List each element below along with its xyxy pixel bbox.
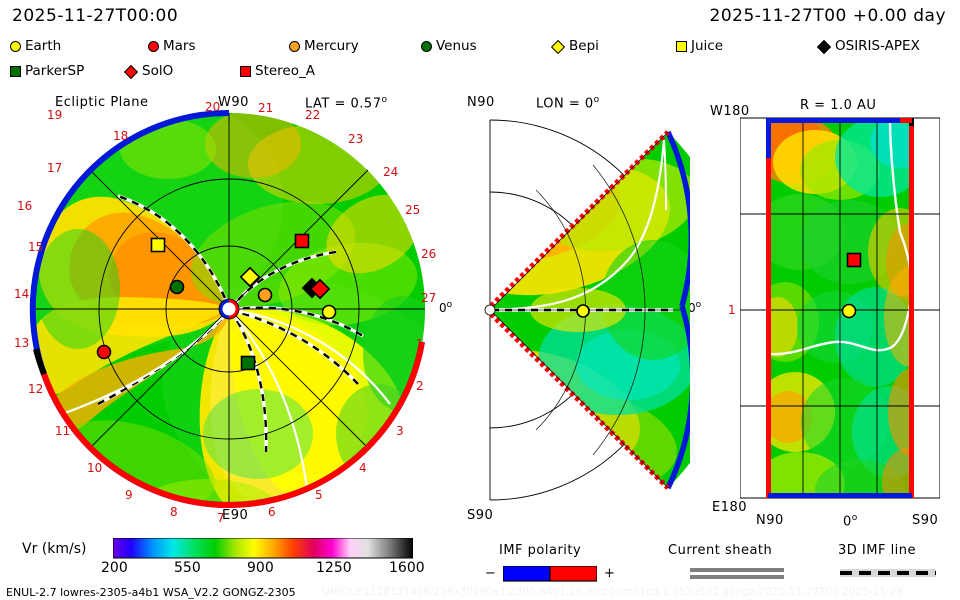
- legend-item-osiris-apex: OSIRIS-APEX: [819, 40, 920, 53]
- legend-item-solo: SolO: [126, 65, 173, 78]
- earth-body-marker: [843, 305, 856, 318]
- carrington-tick-1: 1: [416, 337, 424, 351]
- legend-item-earth: Earth: [10, 40, 61, 53]
- legend-item-mercury: Mercury: [289, 40, 359, 53]
- meridional-plane-plot: [468, 110, 690, 510]
- sphere-map-plot: [740, 112, 940, 504]
- earth-marker-icon: [10, 41, 21, 52]
- carrington-tick-6: 6: [268, 505, 276, 519]
- mars-body-marker: [98, 346, 111, 359]
- carrington-tick-21: 21: [258, 101, 273, 115]
- sphere-xtick-s90: S90: [912, 513, 938, 528]
- footer-model-text: ENUL-2.7 lowres-2305-a4b1 WSA_V2.2 GONGZ…: [6, 586, 296, 599]
- mars-marker-icon: [148, 41, 159, 52]
- legend-item-label: SolO: [142, 65, 173, 78]
- current-sheath-title: Current sheath: [668, 543, 772, 558]
- legend-item-bepi: Bepi: [553, 40, 599, 53]
- imf-polarity-minus: −: [485, 566, 496, 581]
- legend-item-mars: Mars: [148, 40, 196, 53]
- colorbar-tick-1600: 1600: [389, 560, 425, 576]
- legend-item-label: Stereo_A: [255, 65, 315, 78]
- carrington-tick-8: 8: [170, 505, 178, 519]
- colorbar-tick-200: 200: [101, 560, 128, 576]
- current-sheath-swatch: [690, 567, 784, 581]
- stereo-a-marker-icon: [240, 66, 251, 77]
- colorbar-tick-1250: 1250: [316, 560, 352, 576]
- legend-item-label: Mercury: [304, 40, 359, 53]
- header-datetime-left: 2025-11-27T00:00: [12, 6, 178, 26]
- mercury-body-marker: [259, 289, 272, 302]
- colorbar-tick-550: 550: [174, 560, 201, 576]
- carrington-tick-27: 27: [421, 291, 436, 305]
- carrington-tick-23: 23: [348, 132, 363, 146]
- mercury-marker-icon: [289, 41, 300, 52]
- imf-line-3d-swatch: [840, 566, 936, 580]
- venus-body-marker: [171, 281, 184, 294]
- imf-line-3d-title: 3D IMF line: [838, 543, 916, 558]
- carrington-tick-3: 3: [396, 424, 404, 438]
- meridional-lon-label: LON = 0o: [536, 95, 600, 111]
- carrington-tick-20: 20: [205, 100, 220, 114]
- legend-item-venus: Venus: [421, 40, 477, 53]
- legend-item-label: Earth: [25, 40, 61, 53]
- carrington-tick-10: 10: [87, 461, 102, 475]
- stereo-a-body-marker: [848, 254, 861, 267]
- parkersp-body-marker: [242, 357, 255, 370]
- stereo-a-body-marker: [296, 235, 309, 248]
- carrington-tick-19: 19: [47, 108, 62, 122]
- legend-item-label: Venus: [436, 40, 477, 53]
- legend-item-label: ParkerSP: [25, 65, 84, 78]
- ecliptic-plane-plot: [18, 104, 438, 516]
- legend-item-stereo-a: Stereo_A: [240, 65, 315, 78]
- carrington-tick-13: 13: [14, 336, 29, 350]
- carrington-tick-24: 24: [383, 165, 398, 179]
- colorbar-label: Vr (km/s): [22, 541, 86, 557]
- sphere-panel-title: R = 1.0 AU: [800, 98, 876, 113]
- imf-polarity-swatch: [503, 566, 597, 582]
- carrington-tick-18: 18: [113, 129, 128, 143]
- meridional-sun-marker: [485, 305, 495, 315]
- bepi-marker-icon: [551, 39, 565, 53]
- sphere-xtick-n90: N90: [756, 513, 784, 528]
- legend-item-label: Mars: [163, 40, 196, 53]
- imf-polarity-plus: +: [604, 566, 615, 581]
- venus-marker-icon: [421, 41, 432, 52]
- legend-item-juice: Juice: [676, 40, 723, 53]
- carrington-tick-14: 14: [14, 287, 29, 301]
- sun-marker: [219, 299, 239, 319]
- carrington-tick-11: 11: [55, 424, 70, 438]
- carrington-tick-5: 5: [315, 488, 323, 502]
- carrington-tick-12: 12: [28, 382, 43, 396]
- carrington-tick-22: 22: [305, 108, 320, 122]
- carrington-tick-9: 9: [125, 488, 133, 502]
- carrington-tick-2: 2: [416, 379, 424, 393]
- carrington-tick-17: 17: [47, 161, 62, 175]
- legend-item-label: OSIRIS-APEX: [835, 40, 920, 53]
- sphere-xtick-0: 0o: [843, 513, 858, 529]
- sphere-row-label: 1: [728, 303, 736, 317]
- osiris-apex-marker-icon: [817, 39, 831, 53]
- juice-marker-icon: [676, 41, 687, 52]
- carrington-tick-7: 7: [217, 511, 225, 525]
- carrington-tick-4: 4: [359, 461, 367, 475]
- ecliptic-zero-lon-label: 0o: [439, 300, 452, 315]
- meridional-s90-label: S90: [467, 508, 493, 523]
- earth-body-marker: [577, 305, 589, 317]
- legend-item-label: Bepi: [569, 40, 599, 53]
- legend-item-label: Juice: [691, 40, 723, 53]
- legend-item-parkersp: ParkerSP: [10, 65, 84, 78]
- colorbar-tick-900: 900: [247, 560, 274, 576]
- solo-marker-icon: [124, 64, 138, 78]
- imf-polarity-title: IMF polarity: [499, 543, 581, 558]
- carrington-tick-25: 25: [405, 203, 420, 217]
- meridional-n90-label: N90: [467, 95, 495, 110]
- juice-body-marker: [152, 239, 165, 252]
- footer-watermark: UNIQUE1128131436/256x30x90x1.2305-a4b1.1…: [322, 586, 903, 598]
- carrington-tick-26: 26: [421, 247, 436, 261]
- colorbar-gradient: [113, 538, 413, 560]
- carrington-tick-16: 16: [17, 199, 32, 213]
- carrington-tick-15: 15: [28, 240, 43, 254]
- earth-body-marker: [323, 306, 336, 319]
- parkersp-marker-icon: [10, 66, 21, 77]
- header-datetime-right: 2025-11-27T00 +0.00 day: [710, 6, 946, 26]
